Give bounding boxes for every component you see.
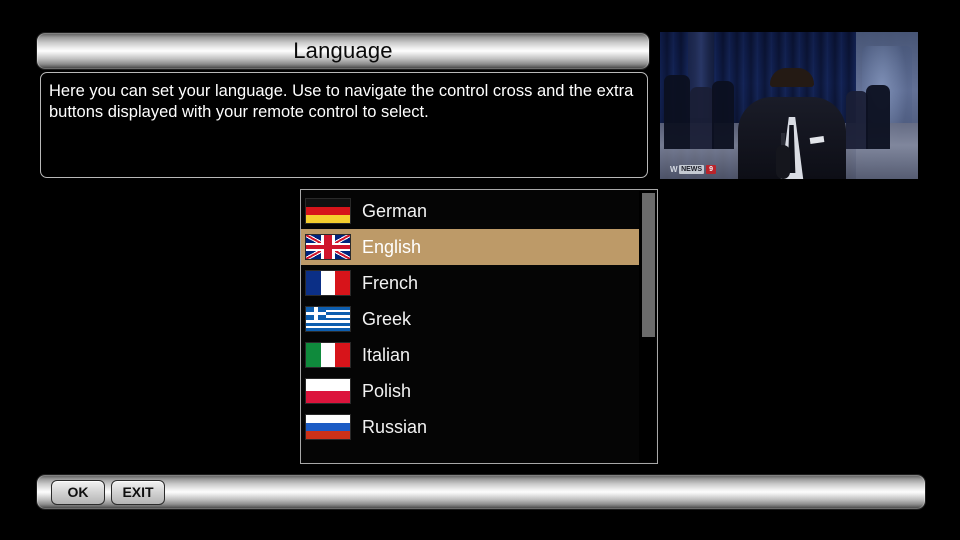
list-item-label: Greek xyxy=(362,309,411,330)
broadcaster-logo-part3: 9 xyxy=(706,165,716,174)
scrollbar-thumb[interactable] xyxy=(642,193,655,337)
broadcaster-logo-part1: W xyxy=(670,165,677,174)
video-reporter-hair xyxy=(770,68,814,87)
video-crowd-figure xyxy=(866,85,890,149)
list-item-label: Italian xyxy=(362,345,410,366)
list-item[interactable]: Italian xyxy=(301,337,639,373)
video-crowd-figure xyxy=(846,91,868,149)
video-microphone xyxy=(776,145,790,179)
language-list-panel: German English French Greek Italian Poli xyxy=(300,189,658,464)
video-crowd-figure xyxy=(712,81,734,149)
list-item-label: Polish xyxy=(362,381,411,402)
it-flag-icon xyxy=(305,342,351,368)
ru-flag-icon xyxy=(305,414,351,440)
toolbar-buttons: OK EXIT xyxy=(51,475,165,509)
list-item-label: German xyxy=(362,201,427,222)
list-scrollbar[interactable] xyxy=(639,191,656,462)
help-text: Here you can set your language. Use to n… xyxy=(49,81,639,123)
gr-flag-icon xyxy=(305,306,351,332)
list-item[interactable]: Polish xyxy=(301,373,639,409)
list-item-selected[interactable]: English xyxy=(301,229,639,265)
bottom-toolbar: OK EXIT xyxy=(36,474,926,510)
video-preview[interactable]: W NEWS 9 xyxy=(660,32,918,179)
broadcaster-logo-part2: NEWS xyxy=(679,165,704,174)
title-bar: Language xyxy=(36,32,650,70)
fr-flag-icon xyxy=(305,270,351,296)
language-list: German English French Greek Italian Poli xyxy=(301,193,639,445)
de-flag-icon xyxy=(305,198,351,224)
video-crowd-figure xyxy=(690,87,714,149)
list-item[interactable]: German xyxy=(301,193,639,229)
list-item[interactable]: Greek xyxy=(301,301,639,337)
list-item-label: French xyxy=(362,273,418,294)
page-title: Language xyxy=(37,33,649,69)
tv-menu-screen: Language Here you can set your language.… xyxy=(0,0,960,540)
video-crowd-figure xyxy=(664,75,690,149)
gb-flag-icon xyxy=(305,234,351,260)
ok-button[interactable]: OK xyxy=(51,480,105,505)
list-item[interactable]: French xyxy=(301,265,639,301)
broadcaster-logo: W NEWS 9 xyxy=(670,165,716,174)
list-item-label: Russian xyxy=(362,417,427,438)
exit-button[interactable]: EXIT xyxy=(111,480,165,505)
list-item-label: English xyxy=(362,237,421,258)
list-item[interactable]: Russian xyxy=(301,409,639,445)
help-panel: Here you can set your language. Use to n… xyxy=(40,72,648,178)
pl-flag-icon xyxy=(305,378,351,404)
